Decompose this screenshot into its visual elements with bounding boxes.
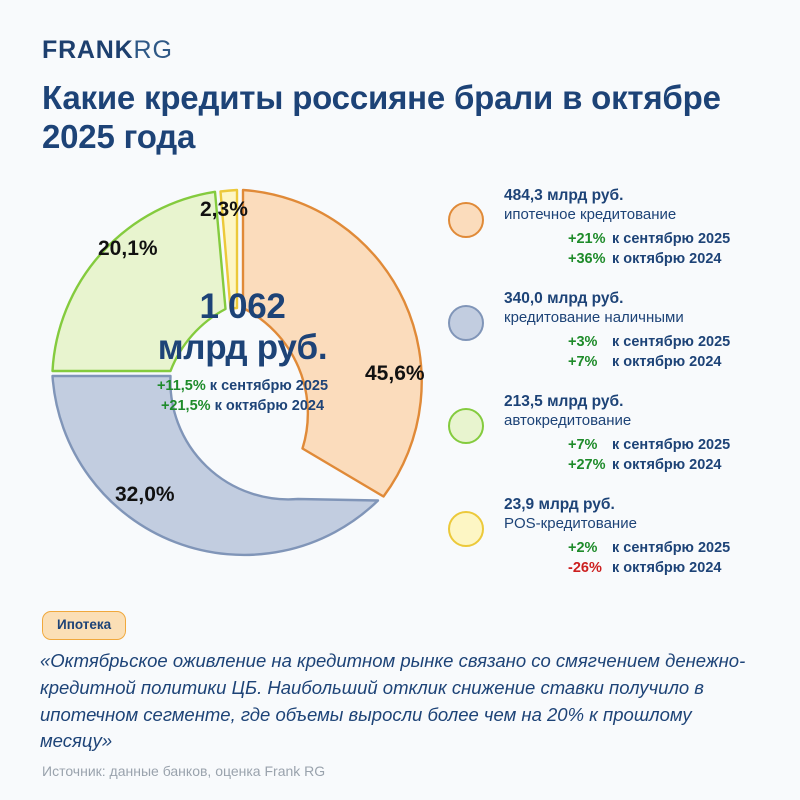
legend-delta-mom-ref-auto: к сентябрю 2025 xyxy=(612,437,730,453)
segment-label-mortgage: 45,6% xyxy=(365,362,425,386)
logo-text-rg: RG xyxy=(134,36,174,64)
legend-delta-yoy-ref-cash: к октябрю 2024 xyxy=(612,354,721,370)
legend-body-cash: 340,0 млрд руб. кредитование наличными +… xyxy=(504,289,788,373)
total-delta-mom: +11,5% к сентябрю 2025 xyxy=(135,377,350,397)
legend-delta-mom-ref-cash: к сентябрю 2025 xyxy=(612,334,730,350)
legend-deltas-mortgage: +21%к сентябрю 2025 +36%к октябрю 2024 xyxy=(504,229,788,270)
legend-delta-yoy-pct-cash: +7% xyxy=(568,352,612,373)
legend-amount-pos: 23,9 млрд руб. xyxy=(504,495,788,514)
total-deltas: +11,5% к сентябрю 2025 +21,5% к октябрю … xyxy=(135,377,350,416)
legend-amount-mortgage: 484,3 млрд руб. xyxy=(504,186,788,205)
legend-delta-mom-pos: +2%к сентябрю 2025 xyxy=(568,538,788,559)
legend-item-auto[interactable]: 213,5 млрд руб. автокредитование +7%к се… xyxy=(448,392,788,495)
legend-delta-yoy-ref-auto: к октябрю 2024 xyxy=(612,457,721,473)
legend-name-auto: автокредитование xyxy=(504,411,788,431)
legend-amount-auto: 213,5 млрд руб. xyxy=(504,392,788,411)
total-unit: млрд руб. xyxy=(135,328,350,369)
legend-name-mortgage: ипотечное кредитование xyxy=(504,205,788,225)
infographic-page: FRANKRG Какие кредиты россияне брали в о… xyxy=(0,0,800,800)
legend-name-pos: POS-кредитование xyxy=(504,514,788,534)
legend-name-cash: кредитование наличными xyxy=(504,308,788,328)
legend-delta-yoy-pct-pos: -26% xyxy=(568,558,612,579)
legend-item-pos[interactable]: 23,9 млрд руб. POS-кредитование +2%к сен… xyxy=(448,495,788,598)
legend-deltas-pos: +2%к сентябрю 2025 -26%к октябрю 2024 xyxy=(504,538,788,579)
logo-text-frank: FRANK xyxy=(42,36,134,64)
total-delta-yoy-pct: +21,5% xyxy=(161,398,211,414)
legend-delta-mom-mortgage: +21%к сентябрю 2025 xyxy=(568,229,788,250)
legend-swatch-pos-icon xyxy=(448,511,484,547)
legend-delta-yoy-pos: -26%к октябрю 2024 xyxy=(568,558,788,579)
frank-rg-logo: FRANKRG xyxy=(42,38,173,63)
total-delta-yoy-ref: к октябрю 2024 xyxy=(215,398,324,414)
segment-label-auto: 20,1% xyxy=(98,237,158,261)
page-title: Какие кредиты россияне брали в октябре 2… xyxy=(42,78,722,157)
quote-text: «Октябрьское оживление на кредитном рынк… xyxy=(40,648,752,755)
total-delta-mom-pct: +11,5% xyxy=(157,378,206,394)
total-delta-mom-ref: к сентябрю 2025 xyxy=(210,378,328,394)
donut-center: 1 062 млрд руб. +11,5% к сентябрю 2025 +… xyxy=(135,287,350,416)
legend-delta-yoy-pct-auto: +27% xyxy=(568,455,612,476)
legend-delta-yoy-cash: +7%к октябрю 2024 xyxy=(568,352,788,373)
legend-delta-yoy-ref-pos: к октябрю 2024 xyxy=(612,560,721,576)
legend-swatch-auto-icon xyxy=(448,408,484,444)
status-badge: Ипотека xyxy=(42,611,126,640)
legend-delta-mom-pct-pos: +2% xyxy=(568,538,612,559)
segment-label-cash: 32,0% xyxy=(115,483,175,507)
legend-swatch-cash-icon xyxy=(448,305,484,341)
legend-deltas-cash: +3%к сентябрю 2025 +7%к октябрю 2024 xyxy=(504,332,788,373)
legend-deltas-auto: +7%к сентябрю 2025 +27%к октябрю 2024 xyxy=(504,435,788,476)
legend-delta-mom-ref-pos: к сентябрю 2025 xyxy=(612,540,730,556)
legend-item-mortgage[interactable]: 484,3 млрд руб. ипотечное кредитование +… xyxy=(448,186,788,289)
legend-body-auto: 213,5 млрд руб. автокредитование +7%к се… xyxy=(504,392,788,476)
legend-delta-mom-pct-auto: +7% xyxy=(568,435,612,456)
source-note: Источник: данные банков, оценка Frank RG xyxy=(42,763,325,779)
legend-delta-yoy-pct-mortgage: +36% xyxy=(568,249,612,270)
total-value: 1 062 xyxy=(135,287,350,328)
legend-delta-mom-cash: +3%к сентябрю 2025 xyxy=(568,332,788,353)
legend-body-mortgage: 484,3 млрд руб. ипотечное кредитование +… xyxy=(504,186,788,270)
legend-delta-yoy-ref-mortgage: к октябрю 2024 xyxy=(612,251,721,267)
legend-delta-mom-pct-mortgage: +21% xyxy=(568,229,612,250)
legend-delta-yoy-auto: +27%к октябрю 2024 xyxy=(568,455,788,476)
legend-amount-cash: 340,0 млрд руб. xyxy=(504,289,788,308)
total-delta-yoy: +21,5% к октябрю 2024 xyxy=(135,397,350,417)
chart-legend: 484,3 млрд руб. ипотечное кредитование +… xyxy=(448,186,788,598)
legend-delta-mom-ref-mortgage: к сентябрю 2025 xyxy=(612,231,730,247)
legend-swatch-mortgage-icon xyxy=(448,202,484,238)
legend-body-pos: 23,9 млрд руб. POS-кредитование +2%к сен… xyxy=(504,495,788,579)
legend-delta-mom-auto: +7%к сентябрю 2025 xyxy=(568,435,788,456)
legend-delta-yoy-mortgage: +36%к октябрю 2024 xyxy=(568,249,788,270)
legend-delta-mom-pct-cash: +3% xyxy=(568,332,612,353)
donut-chart: 45,6% 32,0% 20,1% 2,3% 1 062 млрд руб. +… xyxy=(30,172,450,596)
segment-label-pos: 2,3% xyxy=(200,198,248,222)
legend-item-cash[interactable]: 340,0 млрд руб. кредитование наличными +… xyxy=(448,289,788,392)
